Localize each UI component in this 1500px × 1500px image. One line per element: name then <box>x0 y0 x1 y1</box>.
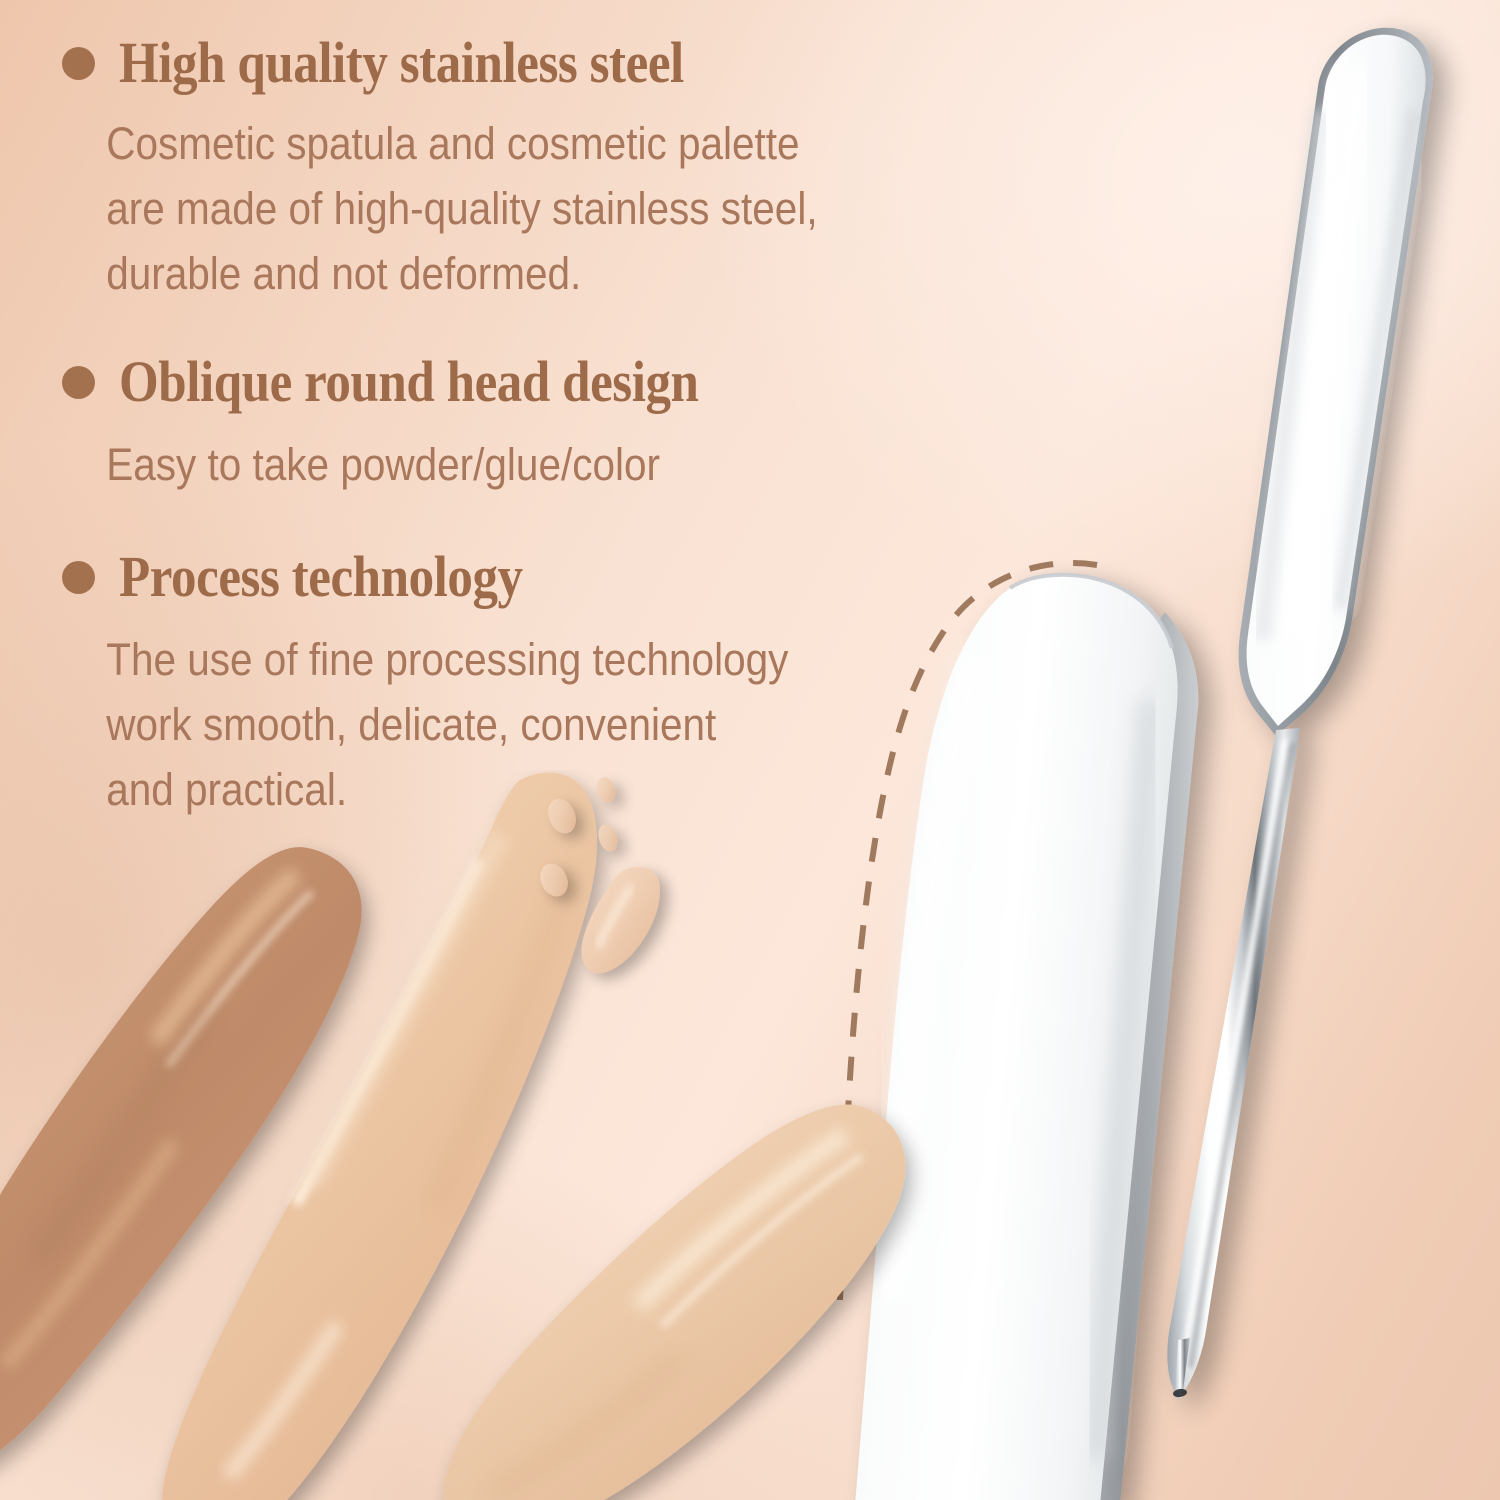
feature-heading-row: High quality stainless steel <box>0 34 908 92</box>
feature-item-process-technology: Process technology The use of fine proce… <box>0 548 876 822</box>
feature-body-line: Cosmetic spatula and cosmetic palette <box>106 112 817 177</box>
bullet-dot-icon <box>62 366 95 399</box>
bullet-dot-icon <box>62 561 95 594</box>
feature-body-line: are made of high-quality stainless steel… <box>106 177 817 242</box>
feature-body-line: work smooth, delicate, convenient <box>106 693 788 758</box>
feature-body: Easy to take powder/glue/color <box>0 433 700 498</box>
feature-body-line: durable and not deformed. <box>106 242 817 307</box>
feature-title: Process technology <box>119 548 523 606</box>
feature-heading-row: Oblique round head design <box>0 353 778 411</box>
product-feature-graphic: High quality stainless steel Cosmetic sp… <box>0 0 1500 1500</box>
swatch-medium-beige <box>444 1105 905 1500</box>
feature-title: High quality stainless steel <box>119 34 684 92</box>
feature-body-line: The use of fine processing technology <box>106 628 788 693</box>
feature-item-oblique-head: Oblique round head design Easy to take p… <box>0 353 778 498</box>
bullet-dot-icon <box>62 47 95 80</box>
feature-body-line: and practical. <box>106 758 788 823</box>
feature-body: Cosmetic spatula and cosmetic palette ar… <box>0 112 818 306</box>
feature-title: Oblique round head design <box>119 353 699 411</box>
foundation-cream-swatches <box>0 770 940 1500</box>
feature-heading-row: Process technology <box>0 548 876 606</box>
feature-item-stainless-steel: High quality stainless steel Cosmetic sp… <box>0 34 908 306</box>
feature-body: The use of fine processing technology wo… <box>0 628 788 822</box>
feature-body-line: Easy to take powder/glue/color <box>106 433 700 498</box>
